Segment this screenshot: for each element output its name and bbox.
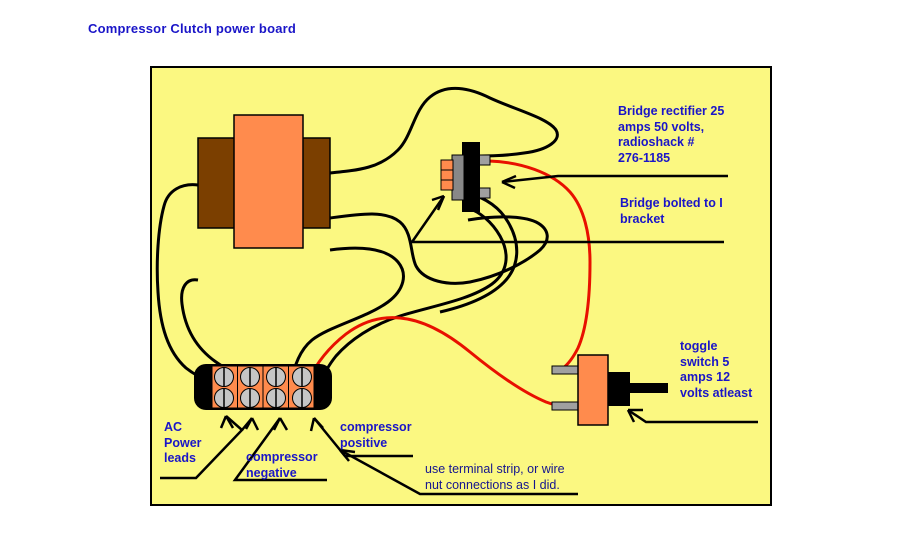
bridge-bolt-upper	[441, 160, 453, 170]
toggle-switch-lever	[630, 383, 668, 393]
wire-strip-to-toggle-lower	[308, 318, 564, 406]
annotation-compressor-positive: compressor positive	[340, 420, 412, 451]
bridge-bolt-lower	[441, 180, 453, 190]
toggle-switch-bushing	[608, 372, 630, 406]
terminal-strip	[194, 364, 332, 410]
annotation-ac-power-leads: AC Power leads	[164, 420, 202, 467]
arrowhead-ac-power-2	[246, 418, 258, 430]
wire-right-to-strip-4	[292, 248, 403, 381]
arrowhead-compressor-positive	[311, 418, 323, 431]
annotation-bridge-bracket: Bridge bolted to I bracket	[620, 196, 723, 227]
bridge-bolt-middle	[441, 170, 453, 180]
leader-bridge-rectifier	[502, 176, 728, 182]
arrowhead-compressor-negative	[274, 418, 287, 430]
leader-toggle-switch	[628, 410, 758, 422]
annotation-toggle-switch: toggle switch 5 amps 12 volts atleast	[680, 339, 752, 401]
annotation-compressor-negative: compressor negative	[246, 450, 318, 481]
toggle-switch[interactable]	[552, 355, 668, 425]
annotation-terminal-note: use terminal strip, or wire nut connecti…	[425, 461, 565, 493]
transformer	[198, 115, 330, 248]
bridge-rectifier	[441, 142, 490, 212]
transformer-coil	[234, 115, 303, 248]
wire-bridge-to-strip-3	[322, 208, 506, 381]
wire-group-black	[157, 88, 557, 382]
annotation-bridge-rectifier: Bridge rectifier 25 amps 50 volts, radio…	[618, 104, 724, 166]
bridge-mount-plate	[452, 155, 464, 200]
bridge-body	[462, 142, 480, 212]
toggle-switch-body	[578, 355, 608, 425]
